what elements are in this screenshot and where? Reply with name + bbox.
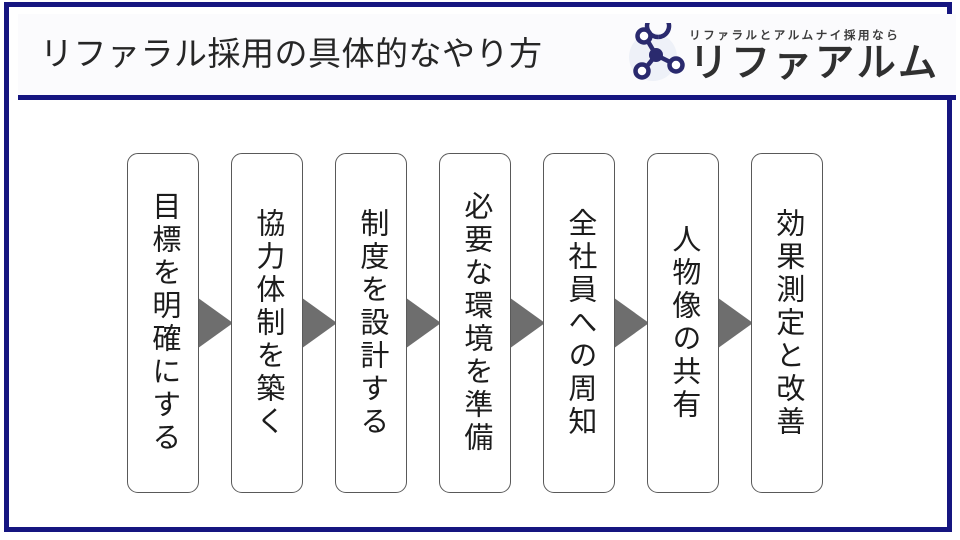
flow-step-6[interactable]: 人物像の共有 [647,153,719,493]
flow-step-label: 協力体制を築く [248,208,286,439]
flow-step-1[interactable]: 目標を明確にする [127,153,199,493]
flow-step-label: 制度を設計する [352,208,390,439]
flow-step-label: 効果測定と改善 [768,208,806,439]
slide-header: リファラル採用の具体的なやり方 [18,14,956,100]
arrow-right-triangle-icon-6 [719,153,751,493]
arrow-right-triangle-icon-5 [615,153,647,493]
arrow-right-triangle-icon-2 [303,153,335,493]
flow-step-label: 目標を明確にする [144,191,182,455]
arrow-right-triangle-icon-3 [407,153,439,493]
slide-frame: リファラル採用の具体的なやり方 [4,2,952,532]
logo-brand-name: リファアルム [689,44,940,83]
slide-canvas: リファラル採用の具体的なやり方 [0,0,960,540]
flow-step-label: 全社員への周知 [560,208,598,439]
flow-step-3[interactable]: 制度を設計する [335,153,407,493]
network-nodes-icon [625,23,689,87]
flow-step-7[interactable]: 効果測定と改善 [751,153,823,493]
flow-step-label: 必要な環境を準備 [456,191,494,455]
logo-tagline: リファラルとアルムナイ採用なら [689,27,900,43]
flow-step-4[interactable]: 必要な環境を準備 [439,153,511,493]
logo-text-block: リファラルとアルムナイ採用なら リファアルム [689,27,940,83]
page-title: リファラル採用の具体的なやり方 [40,36,543,72]
flow-step-label: 人物像の共有 [664,224,702,422]
arrow-right-triangle-icon-1 [199,153,231,493]
brand-logo[interactable]: リファラルとアルムナイ採用なら リファアルム [625,23,940,87]
flow-step-2[interactable]: 協力体制を築く [231,153,303,493]
process-flow: 目標を明確にする 協力体制を築く 制度を設計する 必要な環境を準備 全社員への周… [127,152,869,494]
arrow-right-triangle-icon-4 [511,153,543,493]
flow-step-5[interactable]: 全社員への周知 [543,153,615,493]
